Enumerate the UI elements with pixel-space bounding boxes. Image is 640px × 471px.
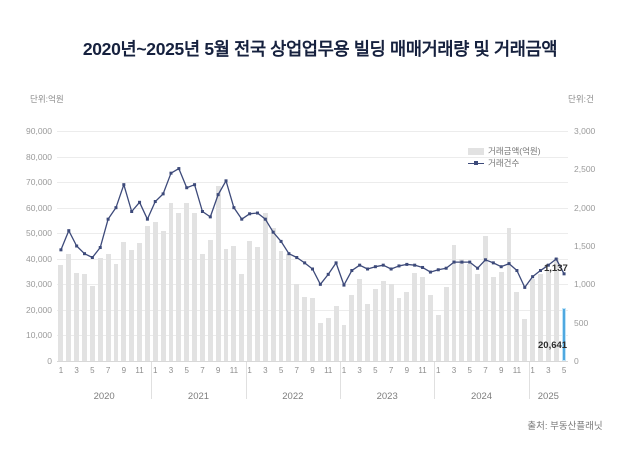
y2-axis-tick-label: 2,000 (574, 203, 620, 213)
line-marker (523, 286, 526, 289)
x-axis-month-label: 7 (195, 366, 209, 375)
line-marker (492, 261, 495, 264)
y-axis-tick-label: 30,000 (6, 279, 52, 289)
y-axis-tick-label: 60,000 (6, 203, 52, 213)
line-marker (67, 229, 70, 232)
legend-item-count: 거래건수 (468, 157, 541, 169)
line-marker (240, 218, 243, 221)
line-marker (515, 269, 518, 272)
line-marker (531, 275, 534, 278)
line-marker (374, 265, 377, 268)
year-separator (151, 362, 152, 399)
line-marker (201, 210, 204, 213)
line-last-value-label: 1,137 (544, 263, 568, 274)
x-axis-month-label: 7 (478, 366, 492, 375)
x-axis-month-label: 5 (368, 366, 382, 375)
y2-axis-tick-label: 1,000 (574, 279, 620, 289)
line-marker (390, 268, 393, 271)
legend-item-amount: 거래금액(억원) (468, 145, 541, 157)
line-marker (264, 218, 267, 221)
line-marker (217, 193, 220, 196)
line-marker (508, 262, 511, 265)
line-marker (232, 206, 235, 209)
x-axis-month-label: 5 (557, 366, 571, 375)
x-axis-month-label: 9 (306, 366, 320, 375)
x-axis-month-label: 5 (274, 366, 288, 375)
line-marker (335, 261, 338, 264)
line-marker (91, 256, 94, 259)
line-marker (177, 167, 180, 170)
x-axis-month-label: 3 (164, 366, 178, 375)
y-axis-tick-label: 50,000 (6, 228, 52, 238)
line-marker (421, 266, 424, 269)
y2-axis-tick-label: 500 (574, 318, 620, 328)
x-axis-month-label: 11 (321, 366, 335, 375)
y2-axis-tick-label: 0 (574, 356, 620, 366)
line-marker (225, 179, 228, 182)
x-axis-month-label: 9 (211, 366, 225, 375)
line-marker (169, 172, 172, 175)
line-marker (429, 271, 432, 274)
x-axis-month-label: 3 (258, 366, 272, 375)
y-axis-tick-label: 70,000 (6, 177, 52, 187)
line-marker (287, 252, 290, 255)
year-separator (340, 362, 341, 399)
line-marker (327, 273, 330, 276)
x-axis-month-label: 9 (400, 366, 414, 375)
line-marker (350, 269, 353, 272)
line-marker (130, 210, 133, 213)
y2-axis-tick-label: 3,000 (574, 126, 620, 136)
line-marker (193, 183, 196, 186)
line-marker (468, 261, 471, 264)
line-marker (303, 261, 306, 264)
line-marker (405, 263, 408, 266)
line-marker (146, 218, 149, 221)
line-marker (445, 267, 448, 270)
x-axis-month-label: 7 (290, 366, 304, 375)
x-axis-year-label: 2025 (508, 391, 588, 402)
y-axis-tick-label: 90,000 (6, 126, 52, 136)
x-axis-month-label: 1 (54, 366, 68, 375)
line-marker (382, 264, 385, 267)
line-marker (209, 215, 212, 218)
line-marker (437, 268, 440, 271)
x-axis-month-label: 3 (353, 366, 367, 375)
x-axis-month-label: 9 (494, 366, 508, 375)
line-marker (83, 252, 86, 255)
line-marker (256, 212, 259, 215)
line-marker (114, 206, 117, 209)
y-axis-tick-label: 20,000 (6, 305, 52, 315)
y-axis-tick-label: 80,000 (6, 152, 52, 162)
x-axis-month-label: 7 (101, 366, 115, 375)
x-axis-year-label: 2020 (64, 391, 144, 402)
x-axis-month-label: 5 (85, 366, 99, 375)
x-axis-month-label: 3 (447, 366, 461, 375)
x-axis-month-label: 11 (133, 366, 147, 375)
line-marker (342, 284, 345, 287)
y-axis-tick-label: 0 (6, 356, 52, 366)
legend-label-amount: 거래금액(억원) (488, 145, 541, 157)
legend: 거래금액(억원) 거래건수 (468, 145, 541, 169)
source-note: 출처: 부동산플래닛 (500, 418, 630, 432)
x-axis-baseline (57, 361, 568, 362)
legend-label-count: 거래건수 (488, 157, 519, 169)
line-marker (295, 256, 298, 259)
line-marker (460, 261, 463, 264)
line-marker (107, 218, 110, 221)
line-marker (272, 231, 275, 234)
bar-swatch-icon (468, 148, 484, 155)
x-axis-year-label: 2022 (253, 391, 333, 402)
line-marker (75, 245, 78, 248)
x-axis-month-label: 5 (180, 366, 194, 375)
line-marker (453, 261, 456, 264)
chart-card: 2020년~2025년 5월 전국 상업업무용 빌딩 매매거래량 및 거래금액 … (0, 0, 640, 471)
y2-axis-tick-label: 2,500 (574, 164, 620, 174)
line-marker (59, 248, 62, 251)
year-separator (529, 362, 530, 399)
x-axis-month-label: 5 (463, 366, 477, 375)
line-marker (311, 268, 314, 271)
x-axis-month-label: 3 (70, 366, 84, 375)
y2-axis-tick-label: 1,500 (574, 241, 620, 251)
line-marker (413, 264, 416, 267)
line-marker (476, 267, 479, 270)
bar-last-value-label: 20,641 (538, 340, 567, 351)
year-separator (246, 362, 247, 399)
line-marker (366, 268, 369, 271)
y-axis-tick-label: 40,000 (6, 254, 52, 264)
line-marker (539, 269, 542, 272)
line-marker (555, 258, 558, 261)
line-marker (138, 201, 141, 204)
line-marker (319, 283, 322, 286)
x-axis-year-label: 2023 (347, 391, 427, 402)
line-marker (484, 258, 487, 261)
line-swatch-icon (468, 160, 484, 167)
line-marker (397, 264, 400, 267)
x-axis-month-label: 11 (227, 366, 241, 375)
x-axis-month-label: 11 (510, 366, 524, 375)
line-marker (358, 264, 361, 267)
line-marker (154, 200, 157, 203)
x-axis-month-label: 9 (117, 366, 131, 375)
x-axis-month-label: 11 (416, 366, 430, 375)
line-marker (99, 246, 102, 249)
x-axis-month-label: 7 (384, 366, 398, 375)
y-axis-tick-label: 10,000 (6, 330, 52, 340)
year-separator (434, 362, 435, 399)
line-marker (248, 212, 251, 215)
line-marker (162, 192, 165, 195)
x-axis-month-label: 3 (541, 366, 555, 375)
line-marker (280, 240, 283, 243)
line-marker (185, 186, 188, 189)
line-marker (122, 183, 125, 186)
x-axis-year-label: 2021 (159, 391, 239, 402)
line-marker (500, 265, 503, 268)
